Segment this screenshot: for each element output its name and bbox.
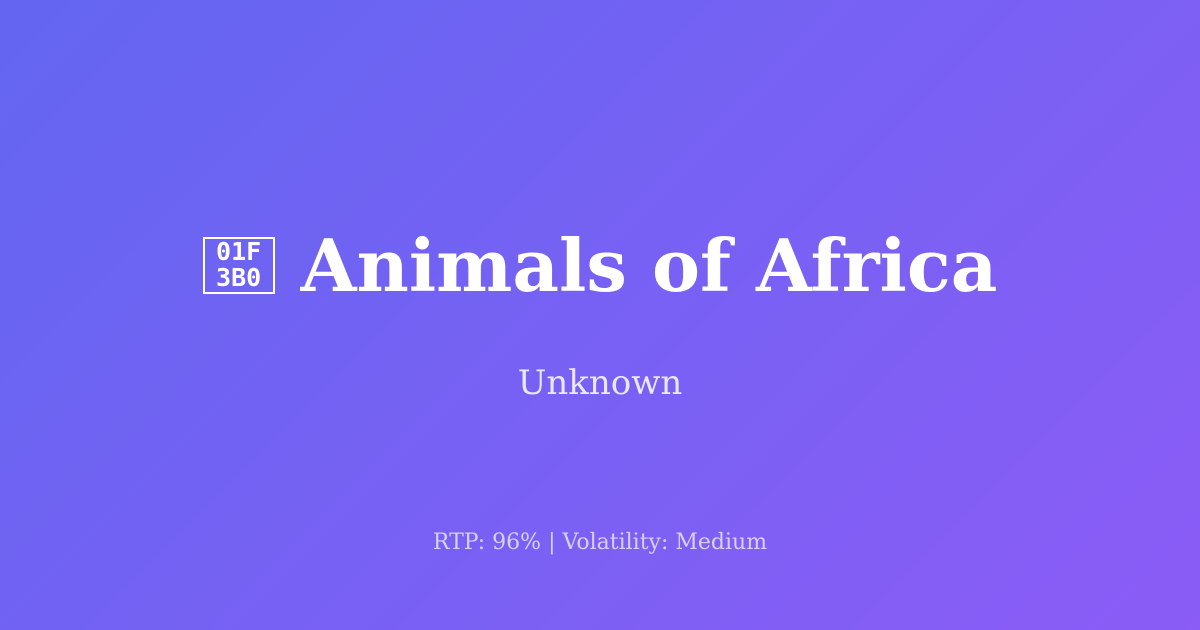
tofu-codepoint-row-top: 01F: [216, 239, 261, 265]
tofu-codepoint-row-bottom: 3B0: [216, 265, 261, 291]
game-og-card: 01F 3B0 Animals of Africa Unknown RTP: 9…: [0, 0, 1200, 630]
game-provider: Unknown: [518, 303, 683, 402]
title-row: 01F 3B0 Animals of Africa: [0, 228, 1200, 304]
slot-machine-icon: 01F 3B0: [203, 237, 275, 294]
game-stats: RTP: 96% | Volatility: Medium: [0, 531, 1200, 555]
page-title: Animals of Africa: [301, 228, 998, 304]
